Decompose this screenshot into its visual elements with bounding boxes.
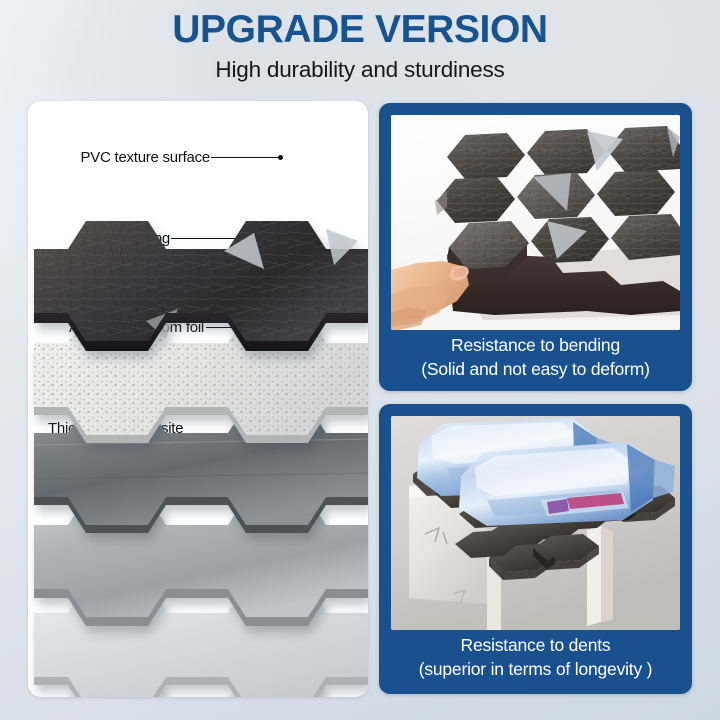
caption-line-1: Resistance to bending xyxy=(379,333,692,357)
caption-line-1: Resistance to dents xyxy=(379,633,692,657)
page-title: UPGRADE VERSION xyxy=(0,0,720,52)
layer-pvc-texture-surface xyxy=(28,213,368,339)
resistance-to-dents-card: Resistance to dents (superior in terms o… xyxy=(379,404,692,694)
photo-hand-holding-tile-sheet xyxy=(391,115,680,330)
infographic-canvas: UPGRADE VERSION High durability and stur… xyxy=(0,0,720,720)
label-pvc-texture-surface: PVC texture surface xyxy=(34,149,210,166)
hexagon-layer-stack xyxy=(28,101,368,697)
leader-line-1 xyxy=(211,157,281,158)
layer-structure-card: PVC texture surface Plastic coating Alum… xyxy=(28,101,368,697)
resistance-to-bending-card: Resistance to bending (Solid and not eas… xyxy=(379,103,692,391)
photo-bottles-on-tile-sheet xyxy=(391,416,680,630)
page-subtitle: High durability and sturdiness xyxy=(0,52,720,83)
caption-resistance-to-bending: Resistance to bending (Solid and not eas… xyxy=(379,333,692,381)
header: UPGRADE VERSION High durability and stur… xyxy=(0,0,720,96)
caption-resistance-to-dents: Resistance to dents (superior in terms o… xyxy=(379,633,692,681)
caption-line-2: (Solid and not easy to deform) xyxy=(379,357,692,381)
leader-dot-1 xyxy=(278,155,283,160)
caption-line-2: (superior in terms of longevity ) xyxy=(379,657,692,681)
